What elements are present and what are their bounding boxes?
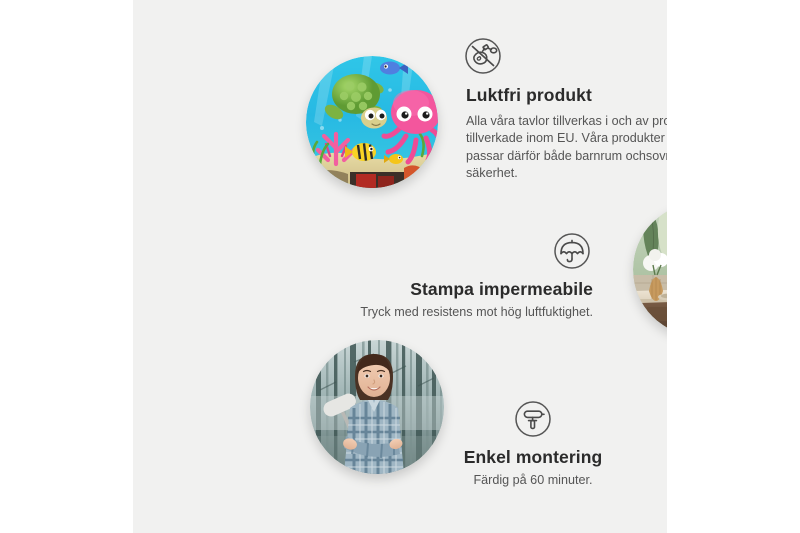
feature-title: Luktfri produkt xyxy=(466,85,667,106)
feature-description: Färdig på 60 minuter. xyxy=(403,472,663,489)
umbrella-icon xyxy=(293,231,592,271)
bathroom-vanity-circle xyxy=(633,203,667,336)
content-panel: Luktfri produkt Alla våra tavlor tillver… xyxy=(133,0,667,533)
feature-assembly: Enkel montering Färdig på 60 minuter. xyxy=(403,399,663,489)
bathroom-vanity-image xyxy=(633,203,667,336)
feature-description: Alla våra tavlor tillverkas i och av pro… xyxy=(466,113,667,183)
feature-title: Stampa impermeabile xyxy=(293,279,593,300)
feature-description: Tryck med resistens mot hög luftfuktighe… xyxy=(293,304,593,321)
feature-waterproof: Stampa impermeabile Tryck med resistens … xyxy=(293,231,593,321)
ocean-scene-image xyxy=(306,56,438,188)
ocean-scene-circle xyxy=(306,56,438,188)
screenshot-root: Luktfri produkt Alla våra tavlor tillver… xyxy=(0,0,800,533)
paint-roller-icon xyxy=(403,399,663,439)
no-fragrance-icon xyxy=(463,36,667,76)
feature-odourless: Luktfri produkt Alla våra tavlor tillver… xyxy=(466,36,667,183)
feature-title: Enkel montering xyxy=(403,447,663,468)
